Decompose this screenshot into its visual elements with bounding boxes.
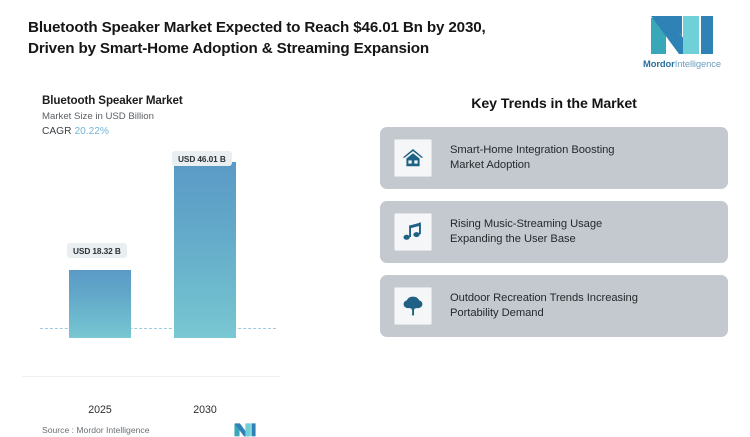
source-label: Source : Mordor Intelligence [42,425,149,435]
mordor-m-logo-icon [649,12,715,56]
trend-text-line-2: Portability Demand [450,306,638,322]
page-title: Bluetooth Speaker Market Expected to Rea… [28,17,588,59]
headline-line-2: Driven by Smart-Home Adoption & Streamin… [28,38,588,59]
cagr-value: 20.22% [74,126,109,137]
trend-card-smart-home[interactable]: Smart-Home Integration Boosting Market A… [380,127,728,189]
bar-chart-plot: USD 18.32 B USD 46.01 B 2025 2030 Source… [22,148,280,338]
bar-value-label-2025: USD 18.32 B [67,243,127,258]
trend-text-line-2: Expanding the User Base [450,232,602,248]
bar-2030 [174,162,236,338]
brand-wordmark: MordorIntelligence [634,58,730,69]
brand-name-light: Intelligence [675,58,721,69]
trend-text: Smart-Home Integration Boosting Market A… [450,143,614,174]
trend-icon-tile [394,287,432,325]
brand-name-bold: Mordor [643,58,675,69]
trend-text-line-1: Outdoor Recreation Trends Increasing [450,291,638,307]
chart-title: Bluetooth Speaker Market [42,94,183,107]
bar-2025 [69,270,131,338]
trend-icon-tile [394,139,432,177]
trend-card-music-streaming[interactable]: Rising Music-Streaming Usage Expanding t… [380,201,728,263]
trend-card-outdoor-recreation[interactable]: Outdoor Recreation Trends Increasing Por… [380,275,728,337]
mordor-m-logo-icon [232,422,258,437]
x-axis-tick-2030: 2030 [174,404,236,416]
trend-text-line-2: Market Adoption [450,158,614,174]
x-axis-tick-2025: 2025 [69,404,131,416]
music-note-icon [401,220,425,244]
trend-text: Rising Music-Streaming Usage Expanding t… [450,217,602,248]
header: Bluetooth Speaker Market Expected to Rea… [0,0,750,82]
cagr-label: CAGR [42,126,71,137]
trend-text: Outdoor Recreation Trends Increasing Por… [450,291,638,322]
chart-subtitle: Market Size in USD Billion [42,111,154,122]
chart-panel: Bluetooth Speaker Market Market Size in … [22,86,280,377]
headline-line-1: Bluetooth Speaker Market Expected to Rea… [28,19,486,36]
key-trends-heading: Key Trends in the Market [380,96,728,112]
key-trends-section: Key Trends in the Market Smart-Home Inte… [380,96,728,349]
trend-text-line-1: Smart-Home Integration Boosting [450,143,614,159]
trend-icon-tile [394,213,432,251]
house-icon [401,146,425,170]
trend-text-line-1: Rising Music-Streaming Usage [450,217,602,233]
chart-source: Source : Mordor Intelligence [42,425,272,435]
brand-logo: MordorIntelligence [634,12,730,74]
bar-value-label-2030: USD 46.01 B [172,151,232,166]
tree-icon [401,294,425,318]
cagr-row: CAGR20.22% [42,126,109,137]
